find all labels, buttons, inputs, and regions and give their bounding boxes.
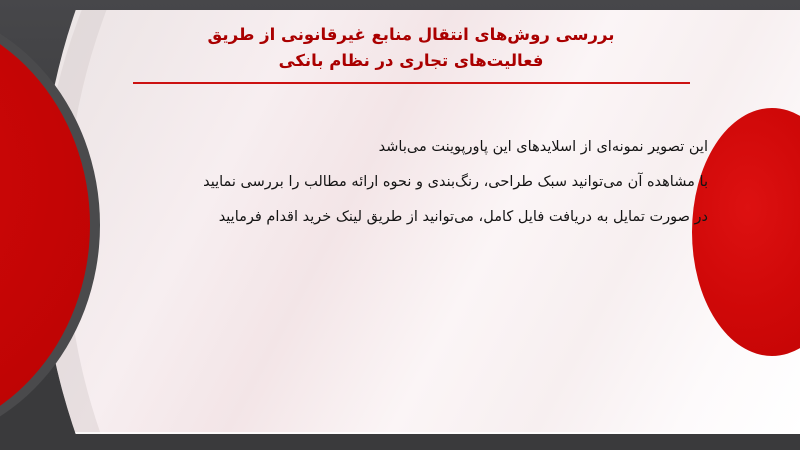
red-ellipse-right-decor <box>692 108 800 356</box>
slide-content-panel: بررسی روش‌های انتقال منابع غیرقانونی از … <box>0 10 800 434</box>
title-underline-divider <box>133 82 690 84</box>
slide-title: بررسی روش‌های انتقال منابع غیرقانونی از … <box>130 22 692 74</box>
title-line-1: بررسی روش‌های انتقال منابع غیرقانونی از … <box>130 22 692 48</box>
slide-canvas: بررسی روش‌های انتقال منابع غیرقانونی از … <box>0 0 800 450</box>
body-line-1: این تصویر نمونه‌ای از اسلایدهای این پاور… <box>108 130 708 165</box>
title-line-2: فعالیت‌های تجاری در نظام بانکی <box>130 48 692 74</box>
body-line-3: در صورت تمایل به دریافت فایل کامل، می‌تو… <box>108 200 708 235</box>
panel-bottom-highlight <box>60 432 800 434</box>
slide-body-text: این تصویر نمونه‌ای از اسلایدهای این پاور… <box>108 130 708 235</box>
body-line-2: با مشاهده آن می‌توانید سبک طراحی، رنگ‌بن… <box>108 165 708 200</box>
